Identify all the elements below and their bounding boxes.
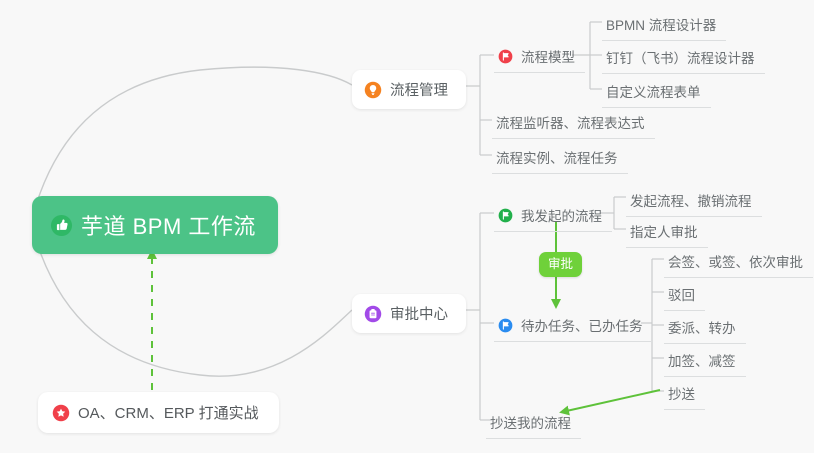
root-node[interactable]: 芋道 BPM 工作流 (32, 196, 278, 254)
leaf-label: 指定人审批 (630, 221, 698, 241)
star-icon (52, 404, 70, 422)
edge-root-to-process-management (36, 67, 352, 205)
leaf-label: 会签、或签、依次审批 (668, 251, 803, 271)
root-label: 芋道 BPM 工作流 (81, 209, 256, 241)
leaf-label: 流程监听器、流程表达式 (496, 112, 645, 132)
lightbulb-icon (364, 81, 382, 99)
node-process-model[interactable]: 流程模型 (494, 41, 585, 73)
leaf-listener-expression[interactable]: 流程监听器、流程表达式 (492, 107, 655, 139)
leaf-dingtalk-designer[interactable]: 钉钉（飞书）流程设计器 (602, 42, 765, 74)
leaf-label: 驳回 (668, 284, 695, 304)
mindmap-canvas: 芋道 BPM 工作流 流程管理 流程模型 BPMN 流程设计器 钉钉（飞书）流程… (0, 0, 814, 453)
flag-icon (498, 49, 513, 64)
leaf-reject[interactable]: 驳回 (664, 279, 705, 311)
bottom-card-label: OA、CRM、ERP 打通实战 (78, 402, 259, 423)
leaf-label: 委派、转办 (668, 317, 736, 337)
leaf-label: 自定义流程表单 (606, 81, 701, 101)
leaf-label: BPMN 流程设计器 (606, 14, 716, 34)
leaf-label: 加签、减签 (668, 350, 736, 370)
branch-label: 流程管理 (390, 79, 448, 100)
clipboard-icon (364, 305, 382, 323)
leaf-custom-form[interactable]: 自定义流程表单 (602, 76, 711, 108)
leaf-instance-task[interactable]: 流程实例、流程任务 (492, 142, 628, 174)
leaf-label: 流程实例、流程任务 (496, 147, 618, 167)
leaf-add-remove-sign[interactable]: 加签、减签 (664, 345, 746, 377)
thumbs-up-icon (50, 214, 73, 237)
branch-label: 审批中心 (390, 303, 448, 324)
edge-root-to-approval-center (36, 240, 352, 376)
node-label: 待办任务、已办任务 (521, 315, 643, 335)
node-my-initiated-process[interactable]: 我发起的流程 (494, 200, 612, 232)
flag-icon (498, 208, 513, 223)
branch-approval-center[interactable]: 审批中心 (352, 294, 466, 333)
leaf-label: 发起流程、撤销流程 (630, 190, 752, 210)
leaf-countersign[interactable]: 会签、或签、依次审批 (664, 246, 813, 278)
leaf-label: 钉钉（飞书）流程设计器 (606, 47, 755, 67)
approval-chip[interactable]: 审批 (539, 252, 582, 277)
node-label: 我发起的流程 (521, 205, 602, 225)
node-label: 流程模型 (521, 46, 575, 66)
leaf-bpmn-designer[interactable]: BPMN 流程设计器 (602, 9, 726, 41)
leaf-label: 抄送我的流程 (490, 412, 571, 432)
branch-process-management[interactable]: 流程管理 (352, 70, 466, 109)
leaf-delegate-transfer[interactable]: 委派、转办 (664, 312, 746, 344)
flag-icon (498, 318, 513, 333)
leaf-cc-my-process[interactable]: 抄送我的流程 (486, 407, 581, 439)
node-todo-done-tasks[interactable]: 待办任务、已办任务 (494, 310, 653, 342)
leaf-assignee-approval[interactable]: 指定人审批 (626, 216, 708, 248)
leaf-label: 抄送 (668, 383, 695, 403)
leaf-carbon-copy[interactable]: 抄送 (664, 378, 705, 410)
bottom-card-integration[interactable]: OA、CRM、ERP 打通实战 (38, 392, 279, 433)
leaf-start-cancel-process[interactable]: 发起流程、撤销流程 (626, 185, 762, 217)
